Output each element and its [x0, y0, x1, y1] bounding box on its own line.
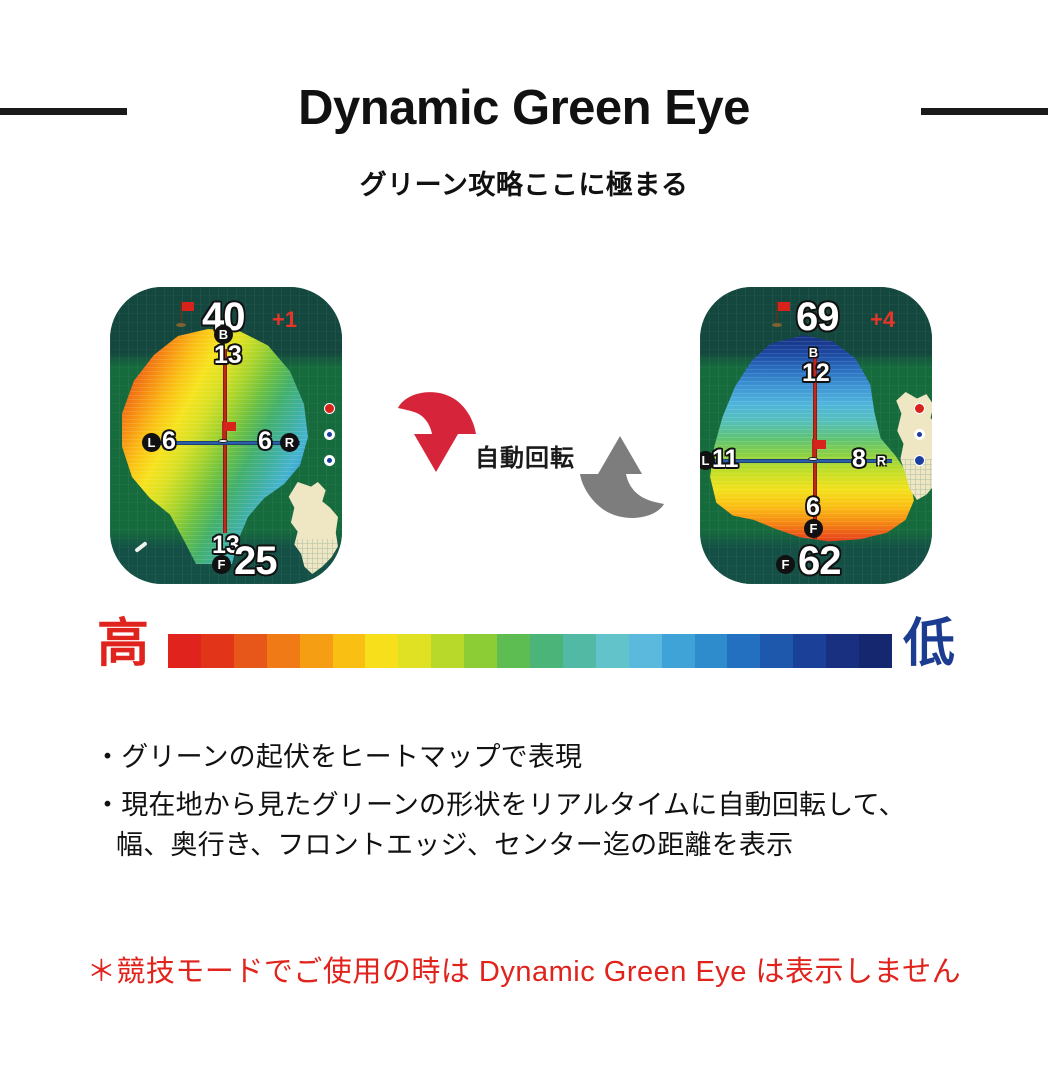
color-scale-segment-8 — [431, 634, 464, 668]
blue-dot-icon — [914, 455, 925, 466]
back-edge-value: 12 — [802, 361, 830, 386]
rotation-label: 自動回転 — [460, 438, 590, 473]
bullet-text-continued: 幅、奥行き、フロントエッジ、センター迄の距離を表示 — [94, 826, 974, 866]
color-scale-segment-21 — [859, 634, 892, 668]
elevation-value: +1 — [272, 309, 297, 331]
page-subtitle: グリーン攻略ここに極まる — [0, 163, 1048, 202]
color-scale-segment-11 — [530, 634, 563, 668]
marker-dots — [324, 403, 338, 481]
feature-list: ・グリーンの起伏をヒートマップで表現 ・現在地から見たグリーンの形状をリアルタイ… — [94, 738, 974, 874]
color-scale-segment-17 — [727, 634, 760, 668]
golf-flag-icon — [176, 301, 196, 327]
page-root: Dynamic Green Eye グリーン攻略ここに極まる 40 +1 B 1… — [0, 0, 1048, 1080]
marker-dots — [914, 403, 928, 481]
color-scale-segment-9 — [464, 634, 497, 668]
color-scale-segment-12 — [563, 634, 596, 668]
blue-dot-icon — [324, 455, 335, 466]
front-edge-badge: F — [212, 555, 231, 574]
color-scale-segment-18 — [760, 634, 793, 668]
device-screen-right[interactable]: 69 +4 B 12 L 11 8 R 6 F F 62 — [700, 287, 932, 584]
footnote-text: ＊競技モードでご使用の時は Dynamic Green Eye は表示しません — [0, 948, 1048, 990]
red-dot-icon — [914, 403, 925, 414]
pin-flag-icon — [218, 421, 238, 443]
elevation-value: +4 — [870, 309, 895, 331]
device-screen-left[interactable]: 40 +1 B 13 L 6 6 R 13 F 25 — [110, 287, 342, 584]
color-scale-segment-19 — [793, 634, 826, 668]
color-scale-segment-15 — [662, 634, 695, 668]
front-edge-badge: F — [804, 519, 823, 538]
page-title: Dynamic Green Eye — [0, 80, 1048, 136]
blue-ring-dot-icon — [914, 429, 925, 440]
front-edge-value: 6 — [806, 495, 820, 520]
rotate-up-arrow-icon — [578, 412, 668, 520]
color-scale-segment-5 — [333, 634, 366, 668]
scale-high-label: 高 — [97, 618, 149, 670]
color-scale-segment-3 — [267, 634, 300, 668]
right-width-value: 6 — [258, 429, 272, 454]
left-edge-badge: L — [142, 433, 161, 452]
front-distance-value: 25 — [234, 541, 277, 581]
color-scale-segment-7 — [398, 634, 431, 668]
bullet-text: ・現在地から見たグリーンの形状をリアルタイムに自動回転して、 — [94, 790, 906, 820]
color-scale-segment-20 — [826, 634, 859, 668]
color-scale-segment-16 — [695, 634, 728, 668]
color-scale-segment-0 — [168, 634, 201, 668]
color-scale-segment-2 — [234, 634, 267, 668]
front-distance-badge: F — [776, 555, 795, 574]
pin-distance-value: 69 — [796, 297, 839, 337]
blue-ring-dot-icon — [324, 429, 335, 440]
color-scale-segment-14 — [629, 634, 662, 668]
color-scale-segment-4 — [300, 634, 333, 668]
left-width-value: 6 — [162, 429, 176, 454]
color-scale-bar — [168, 634, 892, 668]
left-width-value: 11 — [712, 447, 738, 472]
red-dot-icon — [324, 403, 335, 414]
color-scale-segment-13 — [596, 634, 629, 668]
back-edge-value: 13 — [214, 343, 242, 368]
front-distance-value: 62 — [798, 541, 841, 581]
scale-low-label: 低 — [903, 618, 955, 670]
color-scale-segment-6 — [365, 634, 398, 668]
list-item: ・グリーンの起伏をヒートマップで表現 — [94, 738, 974, 778]
right-edge-badge: R — [280, 433, 299, 452]
color-scale-segment-10 — [497, 634, 530, 668]
pin-flag-icon — [808, 439, 828, 461]
bullet-text: ・グリーンの起伏をヒートマップで表現 — [94, 742, 582, 772]
right-edge-badge: R — [872, 451, 891, 470]
color-scale-segment-1 — [201, 634, 234, 668]
golf-flag-icon — [772, 301, 792, 327]
list-item: ・現在地から見たグリーンの形状をリアルタイムに自動回転して、 幅、奥行き、フロン… — [94, 786, 974, 866]
right-width-value: 8 — [852, 447, 866, 472]
